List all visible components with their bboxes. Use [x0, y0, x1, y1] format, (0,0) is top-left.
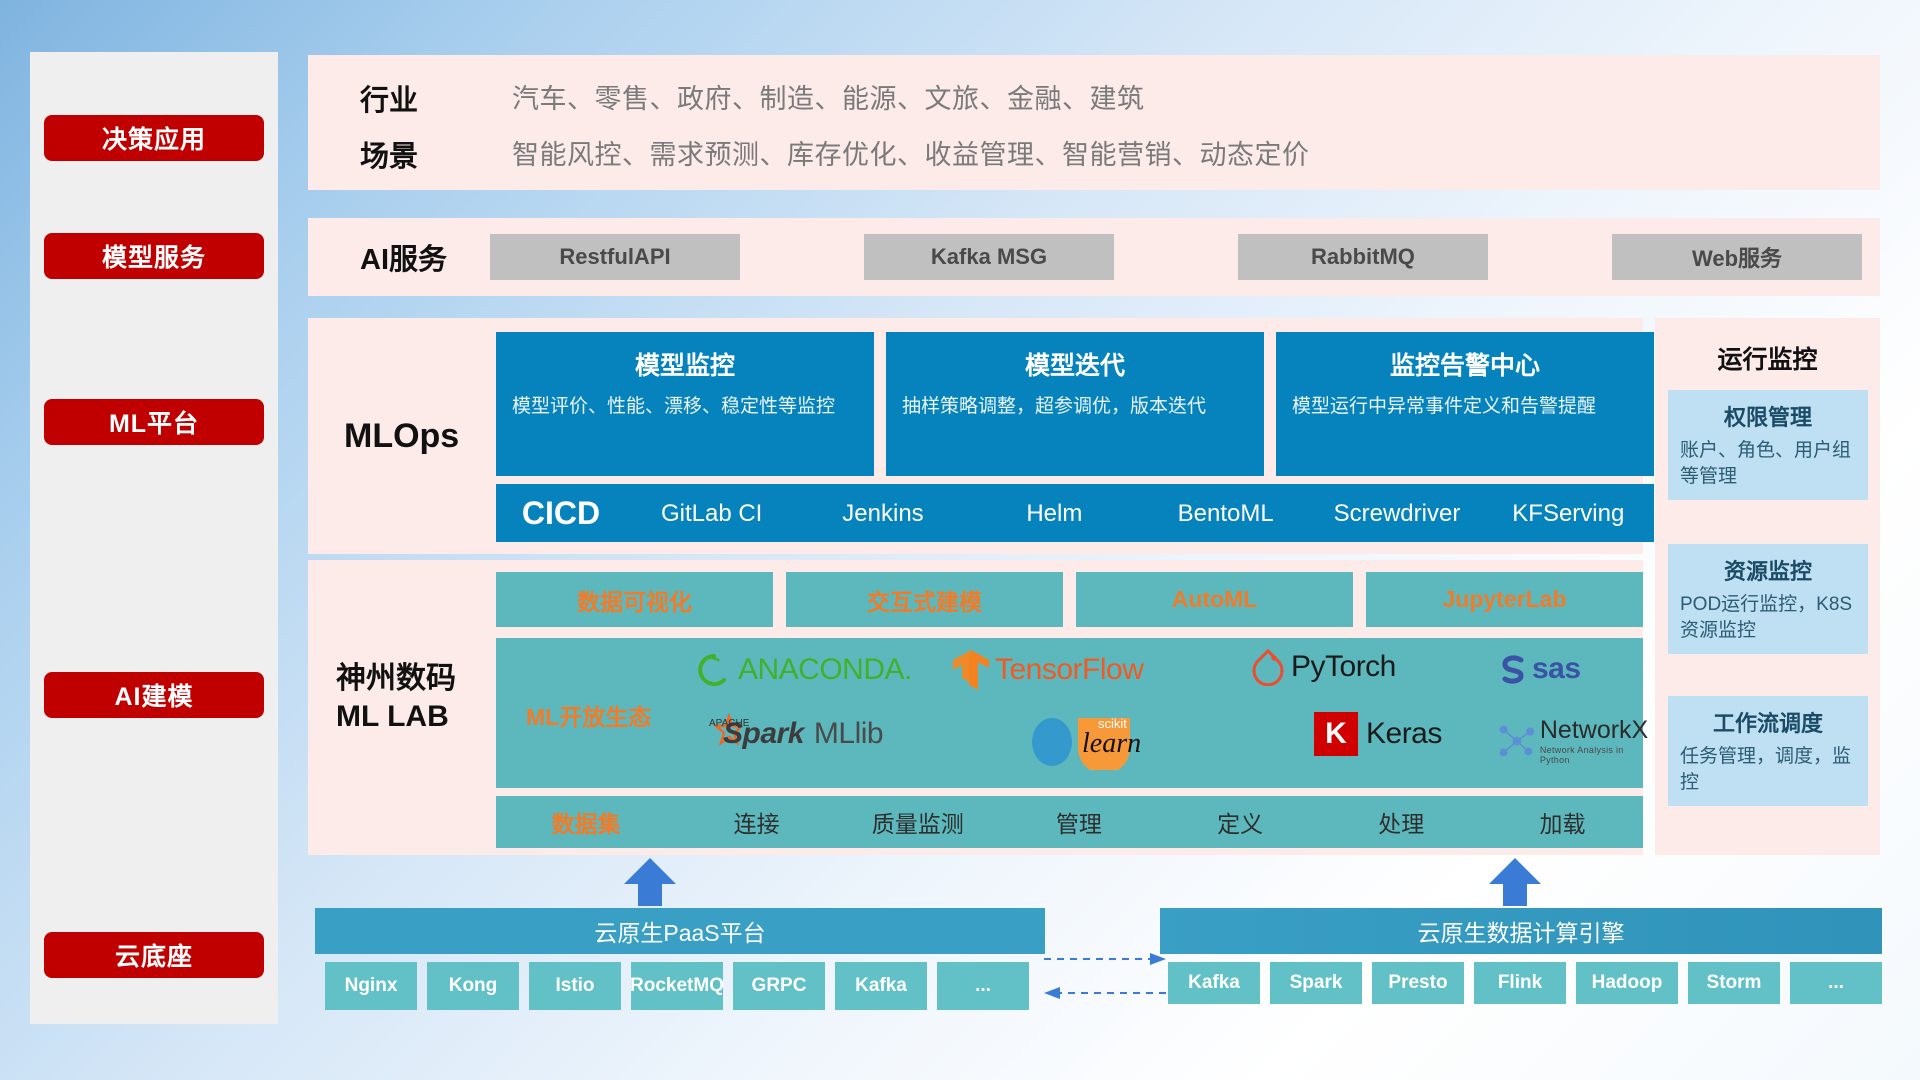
- cicd-item-helm[interactable]: Helm: [969, 499, 1140, 526]
- pytorch-logo-text: PyTorch: [1291, 650, 1396, 684]
- engine-chip-kafka[interactable]: Kafka: [1168, 962, 1260, 1004]
- sas-logo: sas: [1496, 652, 1581, 686]
- sas-logo-text: sas: [1532, 652, 1581, 686]
- monitor-card-workflow[interactable]: 工作流调度 任务管理，调度，监控: [1668, 696, 1868, 806]
- mlops-card-model-iteration[interactable]: 模型迭代 抽样策略调整，超参调优，版本迭代: [886, 332, 1264, 476]
- dataset-item-load[interactable]: 加载: [1482, 805, 1643, 839]
- ml-ecosystem-box: ML开放生态 ANACONDA. TensorFlow: [496, 638, 1643, 788]
- mllib-text: MLlib: [814, 717, 883, 751]
- rail-item-cloud-base[interactable]: 云底座: [44, 932, 264, 978]
- card-title: 资源监控: [1680, 554, 1856, 586]
- paas-platform-bar[interactable]: 云原生PaaS平台: [315, 908, 1045, 954]
- card-desc: 账户、角色、用户组等管理: [1680, 438, 1856, 489]
- scenario-label: 场景: [360, 133, 418, 175]
- ml-lab-tab-interactive-modeling[interactable]: 交互式建模: [786, 572, 1063, 627]
- dataset-item-connect[interactable]: 连接: [676, 805, 837, 839]
- architecture-diagram: 决策应用 模型服务 ML平台 AI建模 云底座 行业 汽车、零售、政府、制造、能…: [0, 0, 1920, 1080]
- cicd-bar[interactable]: CICD GitLab CI Jenkins Helm BentoML Scre…: [496, 484, 1654, 542]
- anaconda-logo-text: ANACONDA.: [738, 653, 912, 687]
- mlops-band: MLOps 模型监控 模型评价、性能、漂移、稳定性等监控 模型迭代 抽样策略调整…: [308, 318, 1643, 554]
- ml-lab-tab-jupyterlab[interactable]: JupyterLab: [1366, 572, 1643, 627]
- paas-chip-istio[interactable]: Istio: [529, 962, 621, 1010]
- card-title: 工作流调度: [1680, 706, 1856, 738]
- engine-chip-hadoop[interactable]: Hadoop: [1576, 962, 1678, 1004]
- card-title: 权限管理: [1680, 400, 1856, 432]
- ai-service-chip-rabbitmq[interactable]: RabbitMQ: [1238, 234, 1488, 280]
- data-engine-bar[interactable]: 云原生数据计算引擎: [1160, 908, 1882, 954]
- spark-apache-text: APACHE: [709, 718, 749, 729]
- card-title: 监控告警中心: [1292, 346, 1638, 382]
- right-monitor-rail: 运行监控 权限管理 账户、角色、用户组等管理 资源监控 POD运行监控，K8S资…: [1655, 318, 1880, 855]
- industry-value: 汽车、零售、政府、制造、能源、文旅、金融、建筑: [512, 77, 1145, 116]
- industry-scenario-band: 行业 汽车、零售、政府、制造、能源、文旅、金融、建筑 场景 智能风控、需求预测、…: [308, 55, 1880, 190]
- mlops-card-alert-center[interactable]: 监控告警中心 模型运行中异常事件定义和告警提醒: [1276, 332, 1654, 476]
- paas-chip-kafka[interactable]: Kafka: [835, 962, 927, 1010]
- dataset-item-process[interactable]: 处理: [1321, 805, 1482, 839]
- mlops-label: MLOps: [344, 318, 459, 554]
- cicd-item-gitlab-ci[interactable]: GitLab CI: [626, 499, 797, 526]
- card-desc: 模型评价、性能、漂移、稳定性等监控: [512, 394, 858, 420]
- ml-lab-band: 神州数码 ML LAB 数据可视化 交互式建模 AutoML JupyterLa…: [308, 560, 1643, 855]
- tensorflow-logo-text: TensorFlow: [995, 653, 1143, 687]
- card-desc: 任务管理，调度，监控: [1680, 744, 1856, 795]
- paas-up-arrow-icon: [620, 858, 680, 906]
- dataset-item-define[interactable]: 定义: [1160, 805, 1321, 839]
- engine-chip-spark[interactable]: Spark: [1270, 962, 1362, 1004]
- dataset-row: 数据集 连接 质量监测 管理 定义 处理 加载: [496, 796, 1643, 848]
- tensorflow-logo: TensorFlow: [951, 648, 1143, 692]
- ml-lab-label: 神州数码 ML LAB: [336, 660, 456, 735]
- right-monitor-title: 运行监控: [1655, 340, 1880, 376]
- ml-lab-tab-automl[interactable]: AutoML: [1076, 572, 1353, 627]
- rail-item-ai-modeling[interactable]: AI建模: [44, 672, 264, 718]
- ai-service-chip-restfulapi[interactable]: RestfulAPI: [490, 234, 740, 280]
- dataset-label: 数据集: [496, 805, 676, 839]
- engine-chip-flink[interactable]: Flink: [1474, 962, 1566, 1004]
- scenario-value: 智能风控、需求预测、库存优化、收益管理、智能营销、动态定价: [512, 133, 1310, 172]
- keras-mark-letter: K: [1325, 717, 1347, 751]
- paas-chip-grpc[interactable]: GRPC: [733, 962, 825, 1010]
- engine-chip-storm[interactable]: Storm: [1688, 962, 1780, 1004]
- card-desc: 抽样策略调整，超参调优，版本迭代: [902, 394, 1248, 420]
- card-desc: POD运行监控，K8S资源监控: [1680, 592, 1856, 643]
- ml-lab-label-line2: ML LAB: [336, 698, 456, 736]
- paas-chip-kong[interactable]: Kong: [427, 962, 519, 1010]
- keras-mark: K: [1314, 712, 1358, 756]
- ai-service-label: AI服务: [360, 218, 447, 296]
- paas-chip-nginx[interactable]: Nginx: [325, 962, 417, 1010]
- ml-ecosystem-label: ML开放生态: [526, 698, 651, 732]
- engine-up-arrow-icon: [1485, 858, 1545, 906]
- cicd-item-screwdriver[interactable]: Screwdriver: [1311, 499, 1482, 526]
- keras-logo-text: Keras: [1366, 717, 1442, 751]
- paas-engine-link-arrows-icon: [1040, 945, 1170, 1005]
- learn-text: learn: [1082, 728, 1141, 760]
- monitor-card-permission[interactable]: 权限管理 账户、角色、用户组等管理: [1668, 390, 1868, 500]
- cicd-item-bentoml[interactable]: BentoML: [1140, 499, 1311, 526]
- ml-lab-label-line1: 神州数码: [336, 660, 456, 698]
- keras-logo: K Keras: [1314, 712, 1442, 756]
- ai-service-chip-kafka-msg[interactable]: Kafka MSG: [864, 234, 1114, 280]
- networkx-tagline: Network Analysis in Python: [1540, 745, 1651, 765]
- ml-lab-tab-data-visualization[interactable]: 数据可视化: [496, 572, 773, 627]
- left-rail: 决策应用 模型服务 ML平台 AI建模 云底座: [30, 52, 278, 1024]
- dataset-item-quality[interactable]: 质量监测: [837, 805, 998, 839]
- monitor-card-resource[interactable]: 资源监控 POD运行监控，K8S资源监控: [1668, 544, 1868, 654]
- card-title: 模型监控: [512, 346, 858, 382]
- rail-item-decision-app[interactable]: 决策应用: [44, 115, 264, 161]
- cicd-item-jenkins[interactable]: Jenkins: [797, 499, 968, 526]
- engine-chip-more[interactable]: ...: [1790, 962, 1882, 1004]
- anaconda-logo: ANACONDA.: [696, 652, 912, 688]
- mlops-card-model-monitoring[interactable]: 模型监控 模型评价、性能、漂移、稳定性等监控: [496, 332, 874, 476]
- industry-label: 行业: [360, 77, 418, 119]
- ai-service-chip-web-service[interactable]: Web服务: [1612, 234, 1862, 280]
- scikit-learn-logo: scikit learn: [1026, 710, 1146, 770]
- networkx-logo: NetworkX Network Analysis in Python: [1496, 716, 1650, 765]
- card-desc: 模型运行中异常事件定义和告警提醒: [1292, 394, 1638, 420]
- card-title: 模型迭代: [902, 346, 1248, 382]
- rail-item-model-service[interactable]: 模型服务: [44, 233, 264, 279]
- pytorch-logo: PyTorch: [1251, 648, 1396, 686]
- spark-mllib-logo: APACHE Spark MLlib: [701, 714, 883, 754]
- dataset-item-manage[interactable]: 管理: [998, 805, 1159, 839]
- cicd-title: CICD: [496, 495, 626, 532]
- rail-item-ml-platform[interactable]: ML平台: [44, 399, 264, 445]
- paas-chip-rocketmq[interactable]: RocketMQ: [631, 962, 723, 1010]
- networkx-logo-text: NetworkX: [1540, 716, 1651, 745]
- paas-chip-more[interactable]: ...: [937, 962, 1029, 1010]
- engine-chip-presto[interactable]: Presto: [1372, 962, 1464, 1004]
- ai-service-band: AI服务 RestfulAPI Kafka MSG RabbitMQ Web服务: [308, 218, 1880, 296]
- cicd-item-kfserving[interactable]: KFServing: [1483, 499, 1654, 526]
